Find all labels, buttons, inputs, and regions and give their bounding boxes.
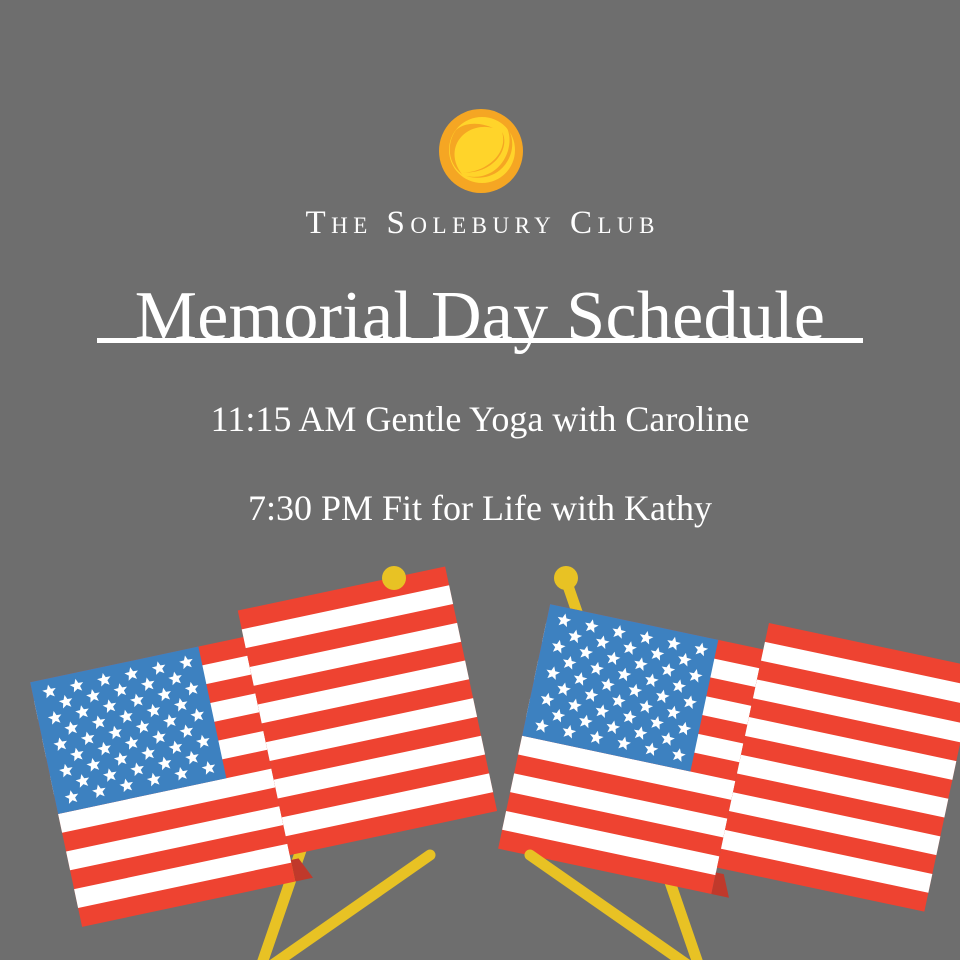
memorial-day-schedule-poster: The Solebury Club Memorial Day Schedule … [0, 0, 960, 960]
left-flag-finial [382, 566, 406, 590]
left-american-flag [25, 566, 503, 960]
right-flag-finial [554, 566, 578, 590]
crossed-american-flags-illustration [0, 0, 960, 960]
right-american-flag [498, 566, 960, 960]
